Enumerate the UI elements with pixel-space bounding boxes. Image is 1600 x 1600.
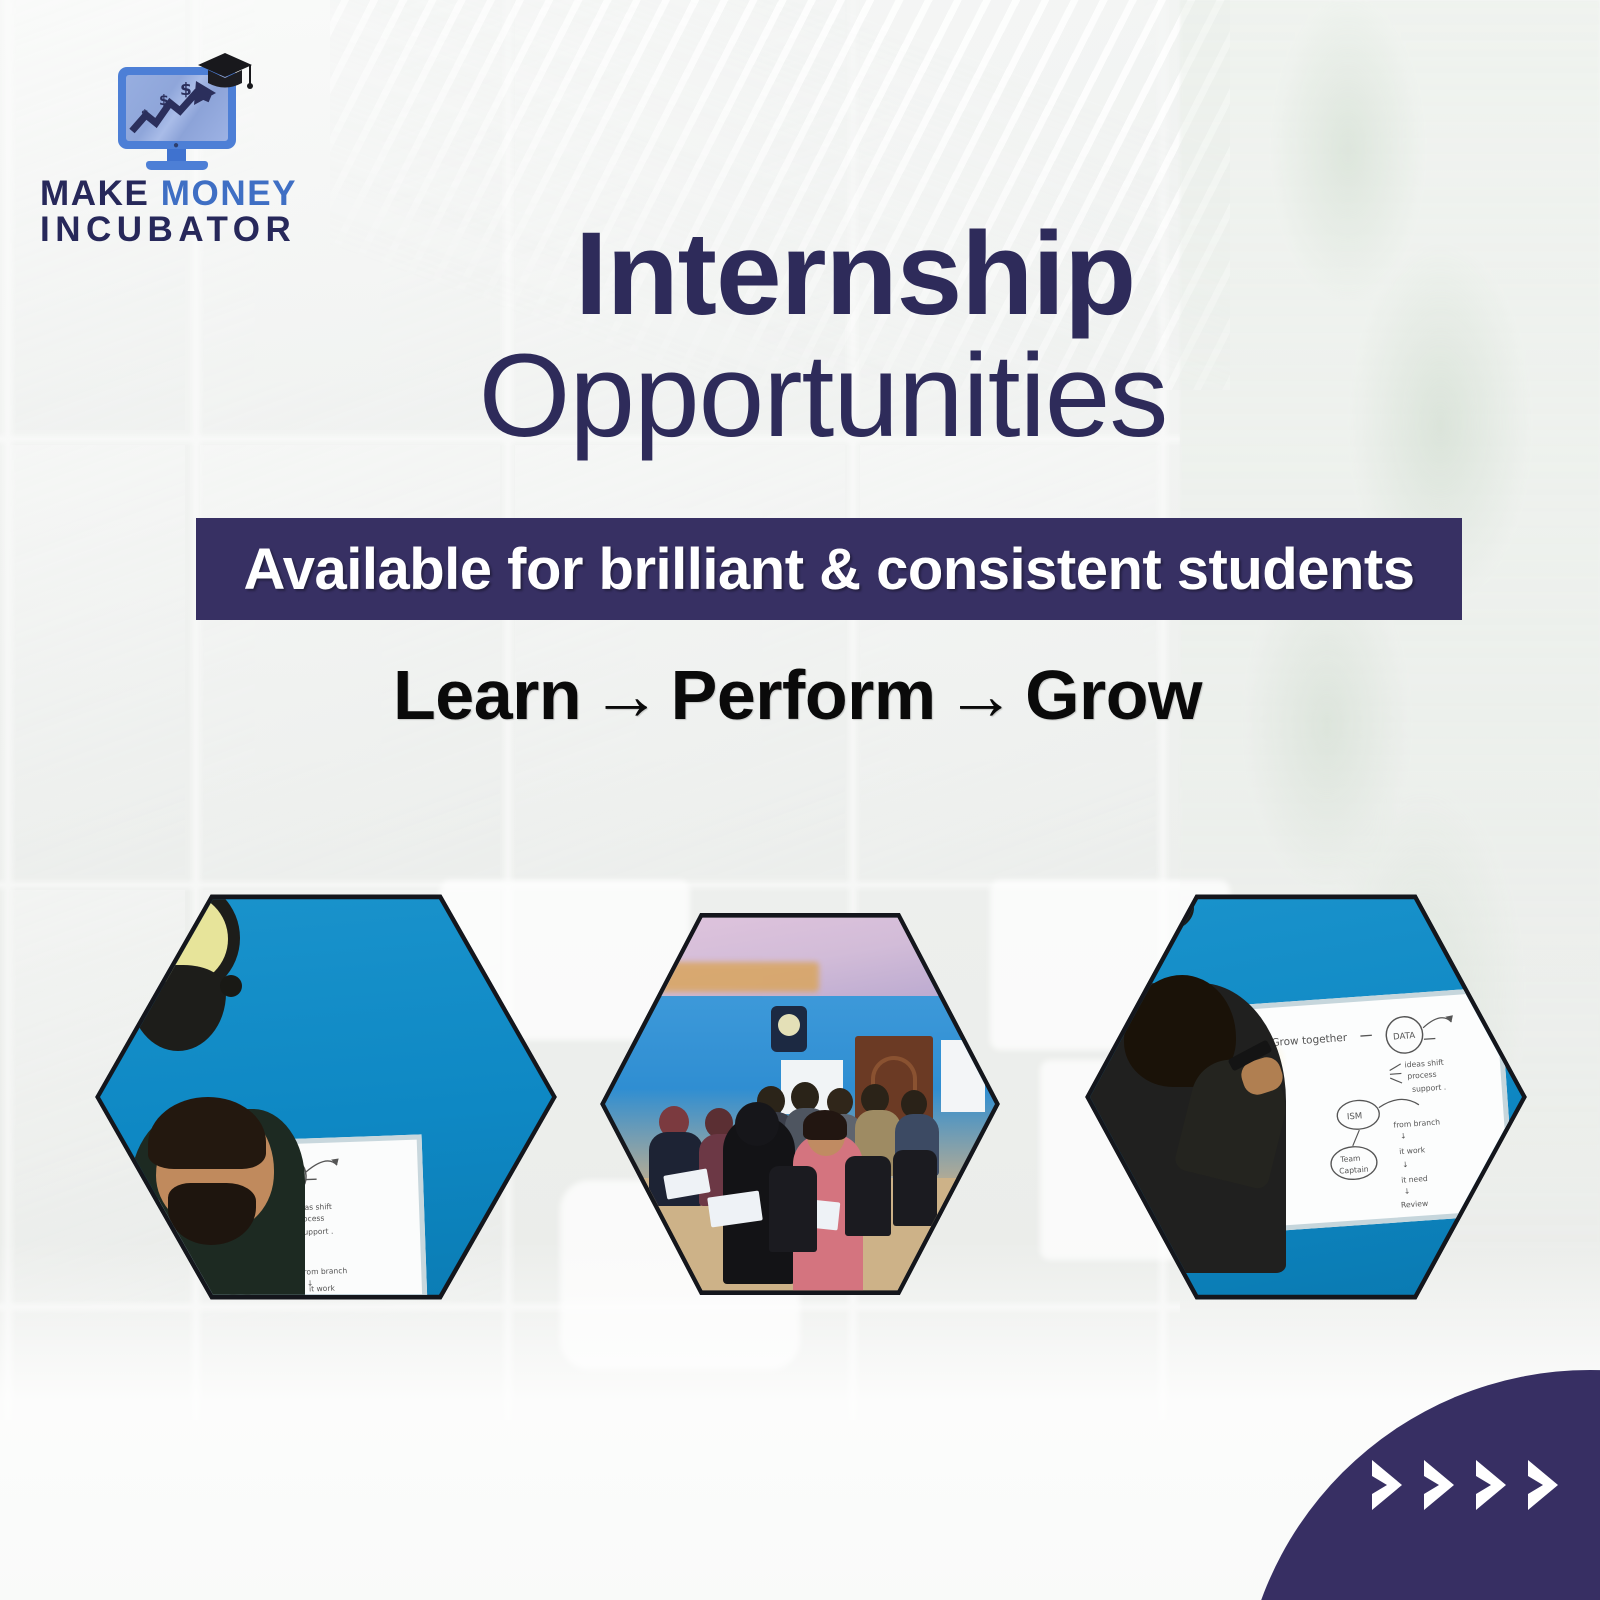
svg-text:$: $ [141,107,149,120]
monitor-base [146,161,208,170]
svg-text:↓: ↓ [307,1279,314,1288]
svg-text:ISM: ISM [1347,1111,1363,1122]
svg-text:DATA: DATA [1393,1031,1416,1043]
svg-text:process: process [1407,1070,1437,1081]
gallery-photo-classroom-students-session[interactable] [600,905,1000,1303]
svg-text:it need: it need [311,1302,338,1303]
graduation-cap-icon [196,51,254,95]
svg-text:$: $ [159,93,169,109]
svg-text:from branch: from branch [1393,1117,1440,1129]
chevron-right-icon-2 [1420,1458,1462,1512]
svg-text:ideas shift: ideas shift [1404,1058,1444,1070]
hexagon-photo-3: → Grow together DATA ideas shift process… [1090,891,1522,1303]
logo-icon-monitor-graduation-chart: $ $ $ ● [110,55,245,170]
chevron-right-icon-3 [1472,1458,1514,1512]
chevron-right-icon-4 [1524,1458,1566,1512]
svg-text:↓: ↓ [1402,1160,1409,1169]
svg-text:↓: ↓ [1404,1187,1411,1196]
chevron-group [1368,1458,1566,1512]
arrow-right-icon-2: → [936,656,1026,734]
page-title: Internship Opportunities [0,215,1600,459]
title-line-internship: Internship [110,215,1600,333]
hexagon-photo-2 [605,910,995,1298]
svg-text:it need: it need [1401,1174,1428,1185]
banner-text: Available for brilliant & consistent stu… [243,536,1414,603]
svg-text:from branch: from branch [301,1266,348,1277]
tagline-step-learn: Learn [393,656,581,734]
svg-text:Review: Review [1401,1199,1429,1210]
arrow-right-icon-1: → [581,656,671,734]
svg-text:Team: Team [223,1300,244,1303]
svg-text:↓: ↓ [1400,1131,1407,1140]
availability-banner: Available for brilliant & consistent stu… [196,518,1462,620]
logo-word-make: MAKE [40,174,149,213]
tagline-step-perform: Perform [671,656,936,734]
tagline-step-grow: Grow [1025,656,1202,734]
svg-text:Team: Team [1339,1154,1361,1164]
process-tagline: Learn→Perform→Grow [0,655,1600,735]
svg-text:$: $ [180,80,192,100]
title-line-opportunities: Opportunities [46,333,1600,459]
corner-decoration [1240,1370,1600,1600]
hexagon-photo-1: DATA ideas shift process support . Plan … [100,891,552,1303]
gallery-photo-instructor-profile-whiteboard[interactable]: DATA ideas shift process support . Plan … [95,886,557,1308]
gallery-photo-instructor-writing-whiteboard[interactable]: → Grow together DATA ideas shift process… [1085,886,1527,1308]
logo-word-money: MONEY [161,174,297,213]
chevron-right-icon-1 [1368,1458,1410,1512]
svg-text:it work: it work [1399,1145,1426,1156]
svg-text:Captain: Captain [1339,1165,1369,1176]
svg-text:support .: support . [1412,1083,1447,1094]
